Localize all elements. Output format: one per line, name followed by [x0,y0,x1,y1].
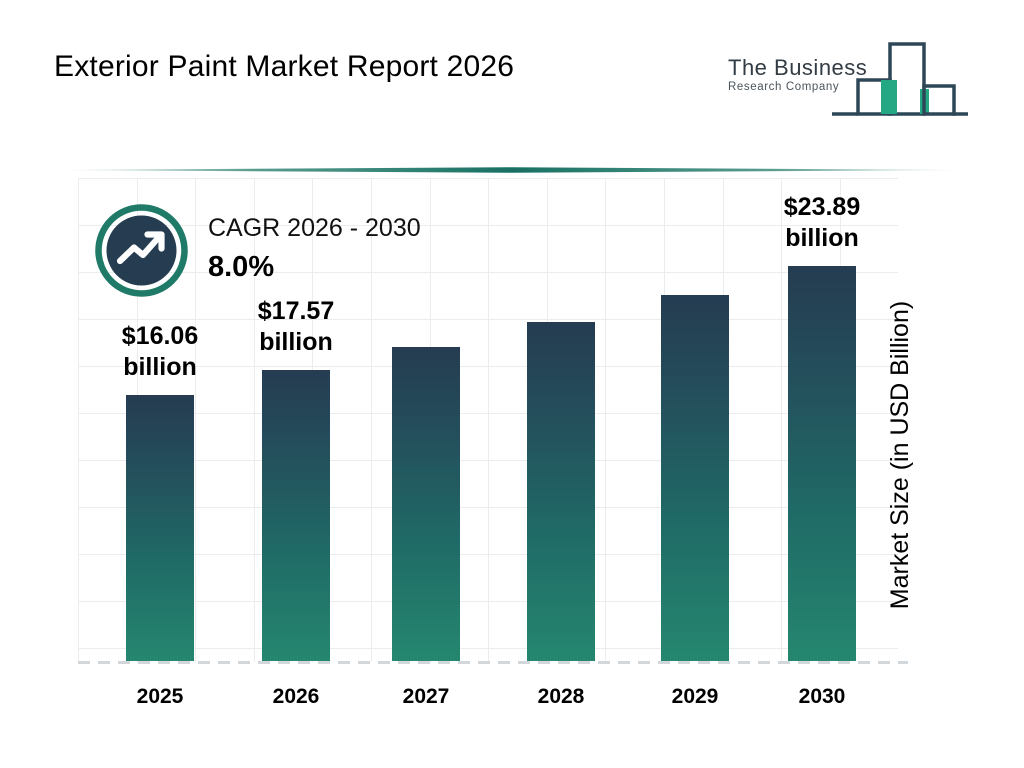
grid-line-horizontal [78,178,898,179]
bar-2029[interactable] [661,295,729,661]
bar-chart-logo-icon [828,36,968,127]
bar-2026[interactable] [262,370,330,661]
grid-line-horizontal [78,507,898,508]
grid-line-horizontal [78,554,898,555]
x-axis-label-2028: 2028 [491,685,631,709]
section-divider [52,160,972,166]
x-axis-label-2029: 2029 [625,685,765,709]
grid-line-horizontal [78,648,898,649]
x-axis-label-2030: 2030 [752,685,892,709]
bar-value-label-2030: $23.89billion [732,192,912,255]
bar-2027[interactable] [392,347,460,661]
bar-value-unit: billion [206,327,386,358]
bar-value-amount: $23.89 [732,192,912,223]
x-axis-label-2025: 2025 [90,685,230,709]
header: Exterior Paint Market Report 2026 The Bu… [0,0,1024,150]
grid-line-horizontal [78,319,898,320]
grid-line-horizontal [78,413,898,414]
bar-2030[interactable] [788,266,856,661]
company-logo: The Business Research Company [728,36,968,122]
x-axis-label-2026: 2026 [226,685,366,709]
x-axis-label-2027: 2027 [356,685,496,709]
page-title: Exterior Paint Market Report 2026 [54,50,514,84]
cagr-range-label: CAGR 2026 - 2030 [208,214,421,243]
grid-line-horizontal [78,601,898,602]
bar-value-unit: billion [732,223,912,254]
grid-line-vertical [78,178,79,662]
cagr-text-block: CAGR 2026 - 2030 8.0% [208,214,421,284]
y-axis-title: Market Size (in USD Billion) [886,255,926,655]
cagr-value-label: 8.0% [208,251,421,284]
trending-up-icon [95,204,188,297]
chart-baseline [78,661,908,664]
grid-line-vertical [605,178,606,662]
bar-2025[interactable] [126,395,194,661]
cagr-callout: CAGR 2026 - 2030 8.0% [95,204,515,314]
grid-line-horizontal [78,460,898,461]
bar-2028[interactable] [527,322,595,661]
